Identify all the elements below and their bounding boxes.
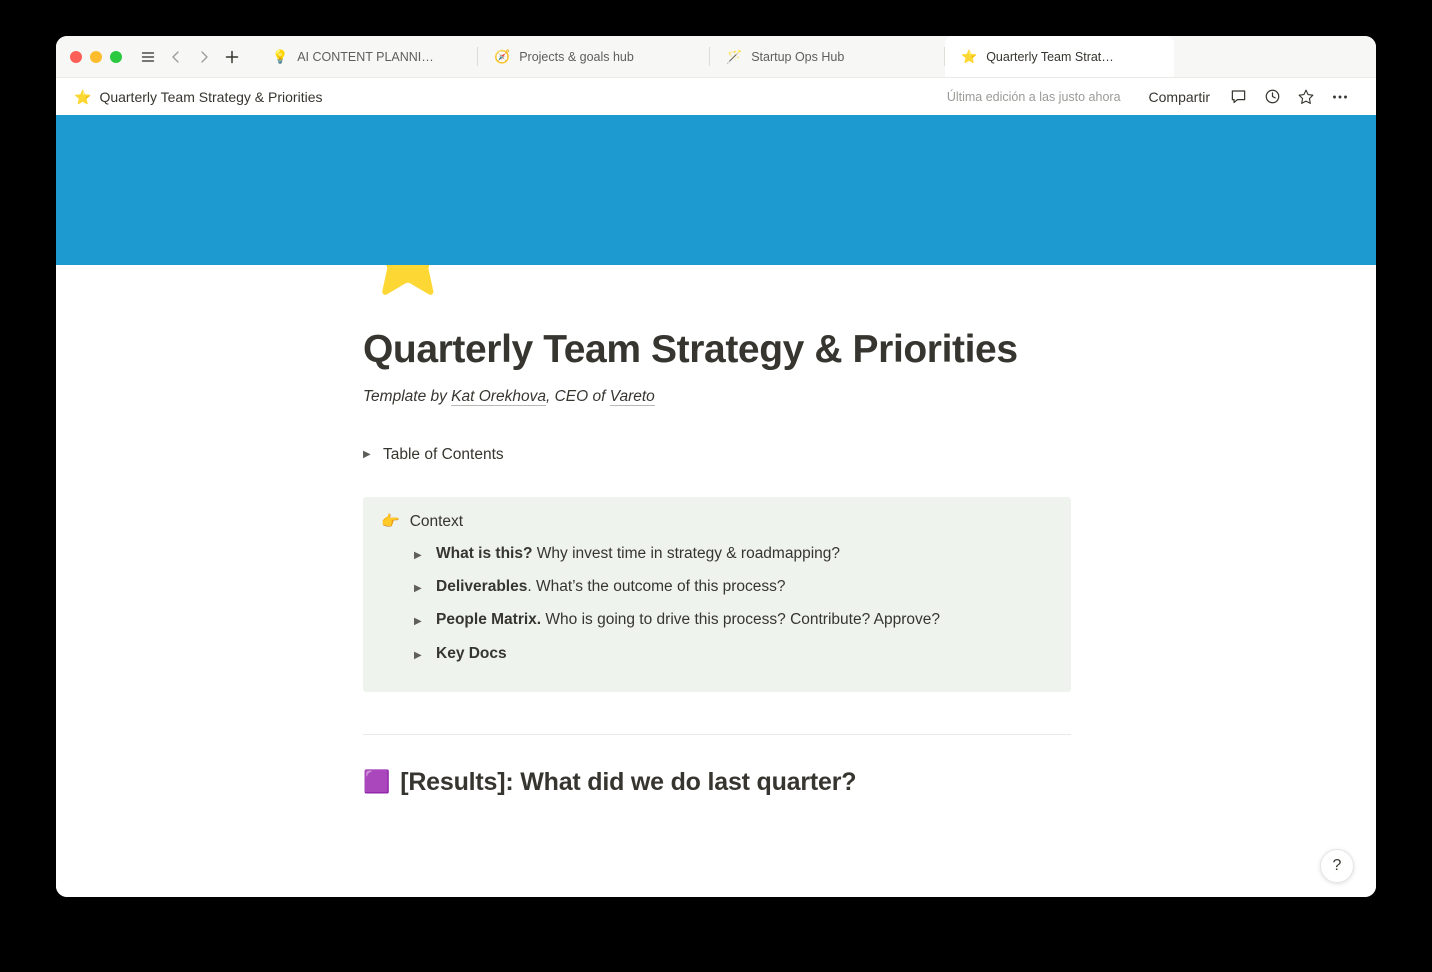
tab-label: AI CONTENT PLANNI… [297,50,434,64]
purple-square-icon: 🟪 [363,771,390,793]
toggle-rest: . What’s the outcome of this process? [527,578,785,595]
toggle-text: Deliverables. What’s the outcome of this… [436,575,786,598]
byline-company-link[interactable]: Vareto [610,388,655,406]
close-window-button[interactable] [70,51,82,63]
compass-icon: 🧭 [494,50,510,63]
breadcrumb[interactable]: ⭐ Quarterly Team Strategy & Priorities [74,89,322,105]
cover-banner[interactable] [56,115,1376,265]
chevron-right-icon[interactable]: ▶ [414,551,425,561]
star-icon: ⭐ [961,50,977,63]
callout-toggle-list: ▶ What is this? Why invest time in strat… [381,537,1053,670]
toggle-people-matrix[interactable]: ▶ People Matrix. Who is going to drive t… [414,603,1053,636]
byline-prefix: Template by [363,388,451,405]
tab-startup-ops-hub[interactable]: 🪄 Startup Ops Hub [710,36,945,77]
tab-label: Quarterly Team Strat… [986,50,1114,64]
screen: 💡 AI CONTENT PLANNI… 🧭 Projects & goals … [0,0,1432,972]
page-icon-star[interactable]: ⭐ [363,265,453,295]
tab-list: 💡 AI CONTENT PLANNI… 🧭 Projects & goals … [256,36,1376,77]
toggle-text: What is this? Why invest time in strateg… [436,542,840,565]
toggle-text: Key Docs [436,642,507,665]
chevron-right-icon[interactable]: ▶ [414,617,425,627]
help-button[interactable]: ? [1320,849,1354,883]
byline-middle: , CEO of [546,388,610,405]
toggle-key-docs[interactable]: ▶ Key Docs [414,637,1053,670]
document-body: ⭐ Quarterly Team Strategy & Priorities T… [56,265,1376,897]
sidebar-toggle-icon[interactable] [134,43,162,71]
toggle-deliverables[interactable]: ▶ Deliverables. What’s the outcome of th… [414,570,1053,603]
toggle-rest: Why invest time in strategy & roadmappin… [532,545,840,562]
comment-icon[interactable] [1224,83,1252,111]
forward-icon[interactable] [190,43,218,71]
page-toolbar: ⭐ Quarterly Team Strategy & Priorities Ú… [56,78,1376,115]
chevron-right-icon[interactable]: ▶ [414,584,425,594]
pointing-hand-icon: 👉 [381,514,400,529]
tab-projects-goals-hub[interactable]: 🧭 Projects & goals hub [478,36,710,77]
byline: Template by Kat Orekhova, CEO of Vareto [363,388,1071,406]
table-of-contents-toggle[interactable]: ▶ Table of Contents [363,446,1071,464]
page-title: Quarterly Team Strategy & Priorities [363,265,1071,374]
minimize-window-button[interactable] [90,51,102,63]
share-button[interactable]: Compartir [1141,85,1218,109]
toggle-bold-label: What is this? [436,545,532,562]
star-icon: ⭐ [74,90,91,104]
magic-wand-icon: 🪄 [726,50,742,63]
context-callout: 👉 Context ▶ What is this? Why invest tim… [363,497,1071,692]
toggle-text: People Matrix. Who is going to drive thi… [436,608,940,631]
section-heading-text: [Results]: What did we do last quarter? [400,768,856,797]
tab-ai-content-planning[interactable]: 💡 AI CONTENT PLANNI… [256,36,478,77]
star-outline-icon[interactable] [1292,83,1320,111]
lightbulb-icon: 💡 [272,50,288,63]
browser-window: 💡 AI CONTENT PLANNI… 🧭 Projects & goals … [56,36,1376,897]
toolbar-actions: Última edición a las justo ahora Compart… [947,83,1354,111]
tab-label: Projects & goals hub [519,50,634,64]
callout-title: Context [410,513,463,531]
toggle-rest: Who is going to drive this process? Cont… [541,611,940,628]
breadcrumb-label: Quarterly Team Strategy & Priorities [99,89,322,105]
tab-bar: 💡 AI CONTENT PLANNI… 🧭 Projects & goals … [56,36,1376,78]
more-options-icon[interactable] [1326,83,1354,111]
toggle-bold-label: People Matrix. [436,611,541,628]
toggle-what-is-this[interactable]: ▶ What is this? Why invest time in strat… [414,537,1053,570]
back-icon[interactable] [162,43,190,71]
new-tab-button[interactable] [218,43,246,71]
chevron-right-icon[interactable]: ▶ [363,450,374,460]
tab-label: Startup Ops Hub [751,50,844,64]
chevron-right-icon[interactable]: ▶ [414,651,425,661]
toggle-bold-label: Key Docs [436,645,507,662]
tab-quarterly-team-strategy[interactable]: ⭐ Quarterly Team Strat… [945,36,1174,77]
navigation-controls [122,43,246,71]
clock-icon[interactable] [1258,83,1286,111]
window-controls [56,51,122,63]
toggle-bold-label: Deliverables [436,578,527,595]
callout-header: 👉 Context [381,513,1053,531]
section-heading-results: 🟪 [Results]: What did we do last quarter… [363,735,1071,797]
last-edited-status: Última edición a las justo ahora [947,90,1121,104]
table-of-contents-label: Table of Contents [383,446,504,464]
maximize-window-button[interactable] [110,51,122,63]
byline-author-link[interactable]: Kat Orekhova [451,388,546,406]
